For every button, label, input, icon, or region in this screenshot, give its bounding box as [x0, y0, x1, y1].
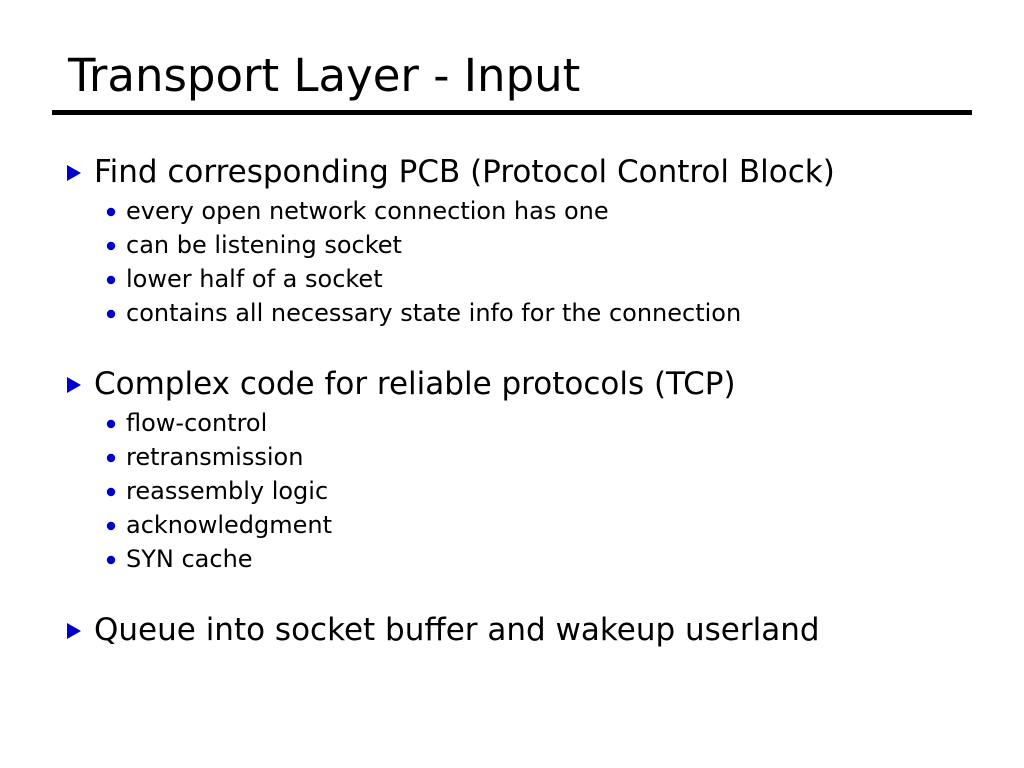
bullet-level2-label: acknowledgment — [126, 508, 332, 542]
bullet-group: Complex code for reliable protocols (TCP… — [64, 364, 1004, 576]
dot-icon — [106, 296, 126, 319]
triangle-right-icon — [64, 152, 94, 183]
title-divider — [52, 110, 972, 115]
page-title: Transport Layer - Input — [52, 48, 972, 104]
triangle-right-icon — [64, 364, 94, 395]
bullet-level2-label: contains all necessary state info for th… — [126, 296, 741, 330]
bullet-level2: lower half of a socket — [64, 262, 1004, 296]
slide-body: Find corresponding PCB (Protocol Control… — [64, 152, 1004, 652]
bullet-level2: flow-control — [64, 406, 1004, 440]
bullet-level2-label: can be listening socket — [126, 228, 402, 262]
bullet-level1-label: Queue into socket buffer and wakeup user… — [94, 610, 820, 650]
dot-icon — [106, 440, 126, 463]
bullet-level1-label: Find corresponding PCB (Protocol Control… — [94, 152, 835, 192]
triangle-right-icon — [64, 610, 94, 641]
dot-icon — [106, 228, 126, 251]
bullet-level2-label: retransmission — [126, 440, 303, 474]
dot-icon — [106, 194, 126, 217]
bullet-level1: Complex code for reliable protocols (TCP… — [64, 364, 1004, 404]
dot-icon — [106, 262, 126, 285]
sub-bullet-list: every open network connection has one ca… — [64, 194, 1004, 330]
dot-icon — [106, 508, 126, 531]
slide: Transport Layer - Input Find correspondi… — [0, 0, 1024, 768]
bullet-level2: acknowledgment — [64, 508, 1004, 542]
bullet-level1: Find corresponding PCB (Protocol Control… — [64, 152, 1004, 192]
bullet-level2: can be listening socket — [64, 228, 1004, 262]
bullet-level2: every open network connection has one — [64, 194, 1004, 228]
bullet-level2-label: flow-control — [126, 406, 267, 440]
bullet-level2: reassembly logic — [64, 474, 1004, 508]
title-block: Transport Layer - Input — [52, 48, 972, 115]
dot-icon — [106, 406, 126, 429]
bullet-level2: SYN cache — [64, 542, 1004, 576]
bullet-level2: retransmission — [64, 440, 1004, 474]
bullet-level2-label: reassembly logic — [126, 474, 328, 508]
bullet-level2-label: every open network connection has one — [126, 194, 609, 228]
bullet-level2-label: SYN cache — [126, 542, 253, 576]
bullet-level2: contains all necessary state info for th… — [64, 296, 1004, 330]
bullet-group: Find corresponding PCB (Protocol Control… — [64, 152, 1004, 330]
bullet-level1-label: Complex code for reliable protocols (TCP… — [94, 364, 736, 404]
dot-icon — [106, 542, 126, 565]
sub-bullet-list: flow-control retransmission — [64, 406, 1004, 576]
bullet-group: Queue into socket buffer and wakeup user… — [64, 610, 1004, 650]
bullet-level1: Queue into socket buffer and wakeup user… — [64, 610, 1004, 650]
bullet-level2-label: lower half of a socket — [126, 262, 383, 296]
dot-icon — [106, 474, 126, 497]
